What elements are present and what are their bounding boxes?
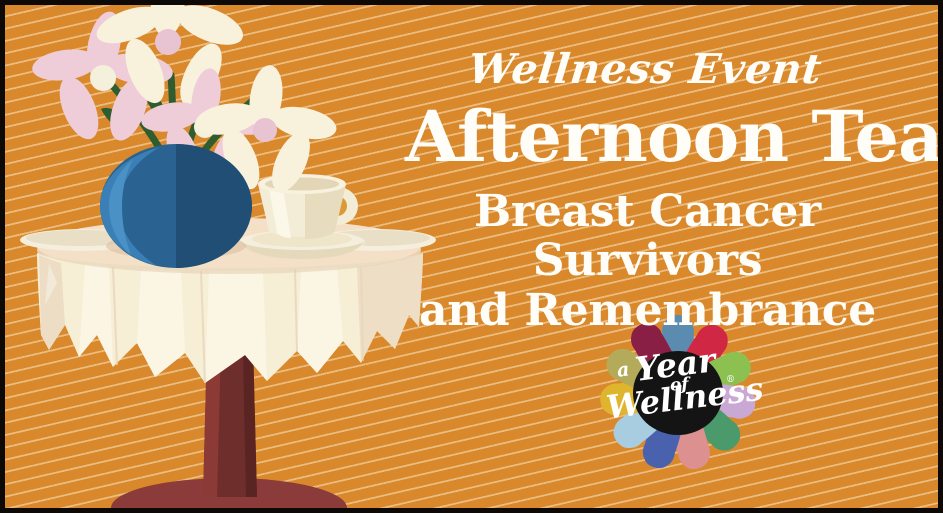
teacup-and-saucer	[239, 174, 365, 259]
poster-inner-frame: a Year of Wellness ® Wellness Event Afte…	[5, 5, 938, 508]
tea-table-illustration	[5, 5, 938, 508]
a-year-of-wellness-logo: a Year of Wellness ®	[588, 303, 768, 483]
poster-canvas: a Year of Wellness ® Wellness Event Afte…	[0, 0, 943, 513]
flower-vase	[100, 144, 252, 268]
tablecloth	[37, 253, 423, 383]
logo-center-disc	[633, 351, 723, 435]
